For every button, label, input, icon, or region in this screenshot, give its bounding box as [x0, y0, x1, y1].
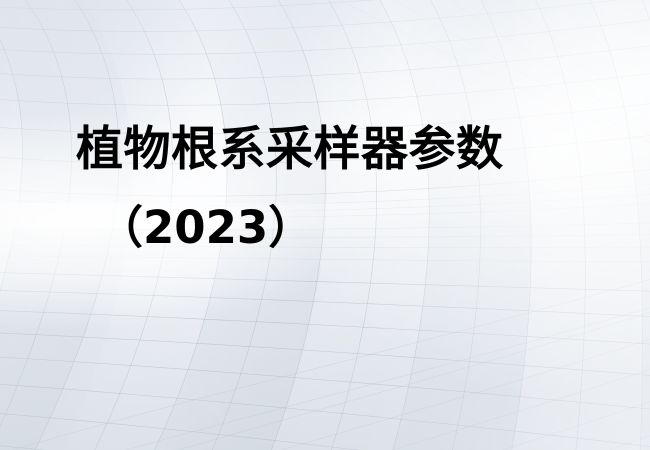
title-block: 植物根系采样器参数 （2023）: [0, 0, 650, 450]
slide-title-line-1: 植物根系采样器参数: [76, 126, 504, 173]
slide-title-line-2: （2023）: [98, 205, 313, 250]
title-slide: 植物根系采样器参数 （2023）: [0, 0, 650, 450]
